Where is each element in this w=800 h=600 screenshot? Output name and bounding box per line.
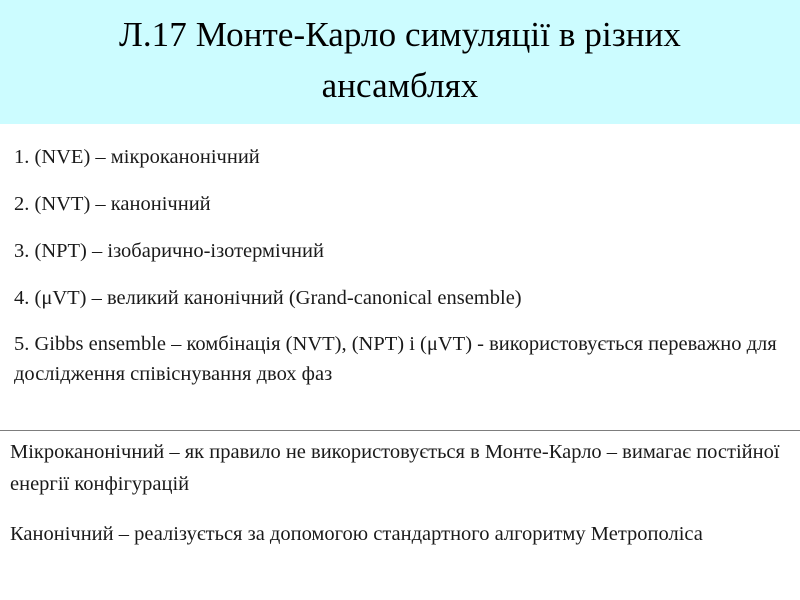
slide-title-band: Л.17 Монте-Карло симуляції в різних анса… — [0, 0, 800, 124]
note-paragraph: Мікроканонічний – як правило не використ… — [10, 436, 788, 500]
note-paragraph: Канонічний – реалізується за допомогою с… — [10, 518, 788, 550]
list-item: 3. (NPT) – ізобарично-ізотермічний — [0, 236, 800, 266]
section-divider — [0, 430, 800, 431]
page-title-line-2: ансамблях — [322, 60, 479, 111]
list-item: 2. (NVT) – канонічний — [0, 189, 800, 219]
list-item: 1. (NVE) – мікроканонічний — [0, 142, 800, 172]
slide-content: 1. (NVE) – мікроканонічний 2. (NVT) – ка… — [0, 124, 800, 389]
list-item: 5. Gibbs ensemble – комбінація (NVT), (N… — [0, 329, 800, 389]
list-item: 4. (μVT) – великий канонічний (Grand-can… — [0, 283, 800, 313]
ensemble-list: 1. (NVE) – мікроканонічний 2. (NVT) – ка… — [0, 142, 800, 389]
page-title-line-1: Л.17 Монте-Карло симуляції в різних — [119, 9, 681, 60]
notes-section: Мікроканонічний – як правило не використ… — [0, 436, 800, 550]
